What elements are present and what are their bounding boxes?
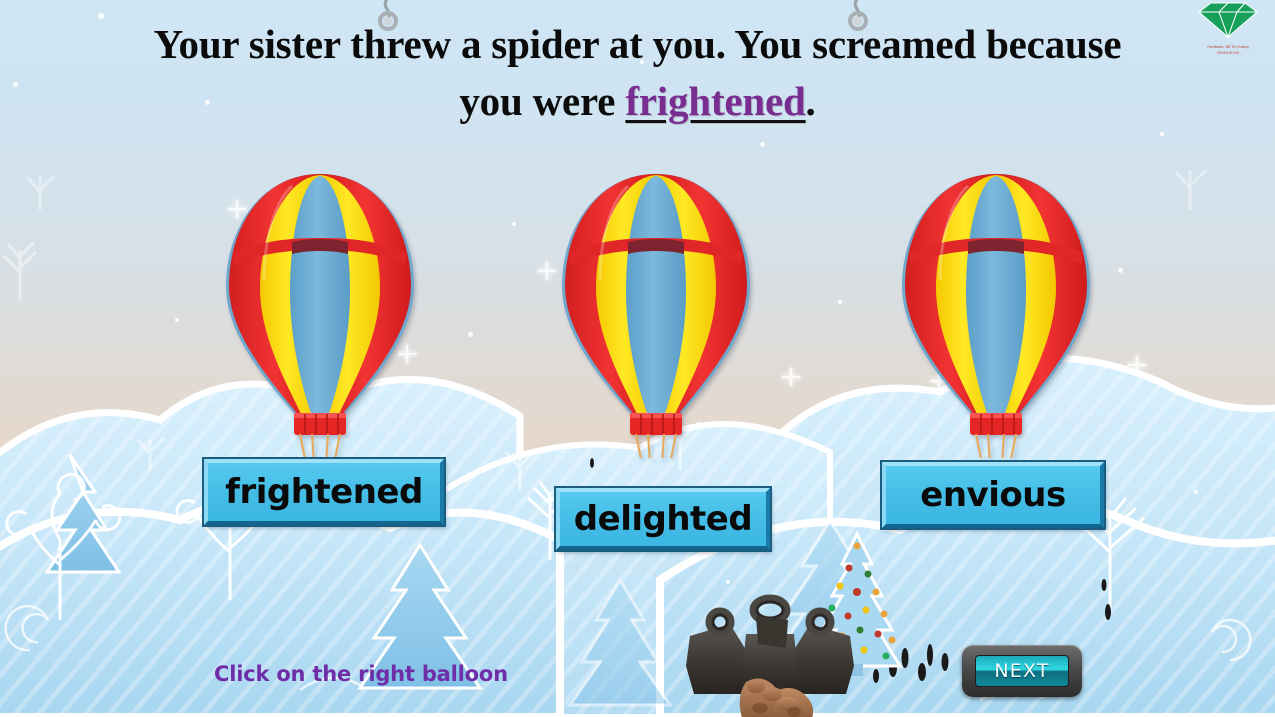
answer-box-frightened[interactable]: frightened: [204, 459, 444, 525]
game-stage: Your sister threw a spider at you. You s…: [0, 0, 1275, 717]
answer-label-frightened: frightened: [225, 472, 423, 512]
answer-label-delighted: delighted: [574, 499, 752, 539]
balloon-frightened[interactable]: [222, 168, 418, 458]
question-text-after: .: [806, 78, 816, 124]
answer-box-envious[interactable]: envious: [882, 462, 1104, 528]
answer-label-envious: envious: [920, 475, 1065, 515]
diamond-icon: [1197, 1, 1259, 39]
next-button-label: NEXT: [994, 660, 1049, 682]
hint-text: Click on the right balloon: [214, 662, 508, 686]
question-text: Your sister threw a spider at you. You s…: [0, 16, 1275, 129]
balloon-delighted[interactable]: [558, 168, 754, 458]
balloon-envious[interactable]: [898, 168, 1094, 458]
watermark-line-1: Facebook: Đỗ Thị Hường: [1185, 45, 1271, 50]
watermark-line-2: 0901010100: [1185, 51, 1271, 56]
weapon-crosshair-hands: [660, 590, 900, 717]
next-button-inner: NEXT: [975, 655, 1069, 687]
watermark: Facebook: Đỗ Thị Hường 0901010100: [1185, 0, 1271, 56]
answer-box-delighted[interactable]: delighted: [556, 488, 770, 550]
next-button[interactable]: NEXT: [962, 645, 1082, 697]
question-answer-word: frightened: [625, 78, 805, 124]
